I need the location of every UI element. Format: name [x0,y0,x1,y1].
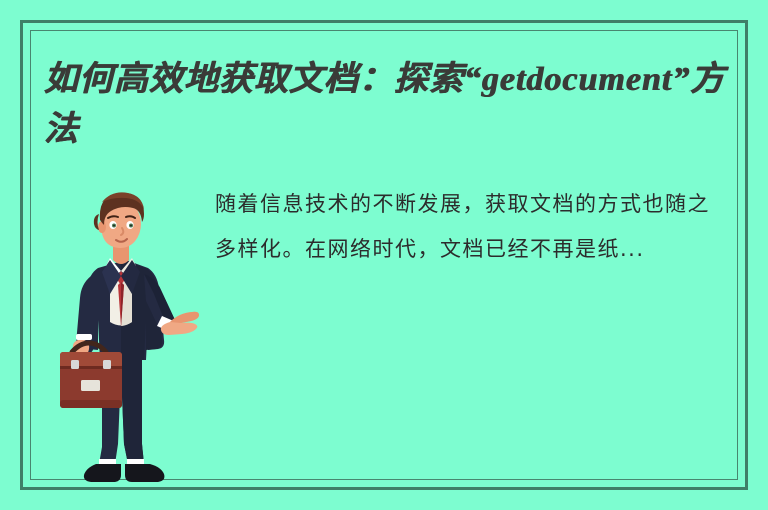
businessman-illustration [58,172,208,482]
article-title: 如何高效地获取文档：探索“getdocument”方法 [44,55,734,155]
businessman-presenting-icon [58,172,208,482]
article-thumbnail-card: 如何高效地获取文档：探索“getdocument”方法 [0,0,768,510]
article-excerpt: 随着信息技术的不断发展，获取文档的方式也随之多样化。在网络时代，文档已经不再是纸… [215,182,727,272]
